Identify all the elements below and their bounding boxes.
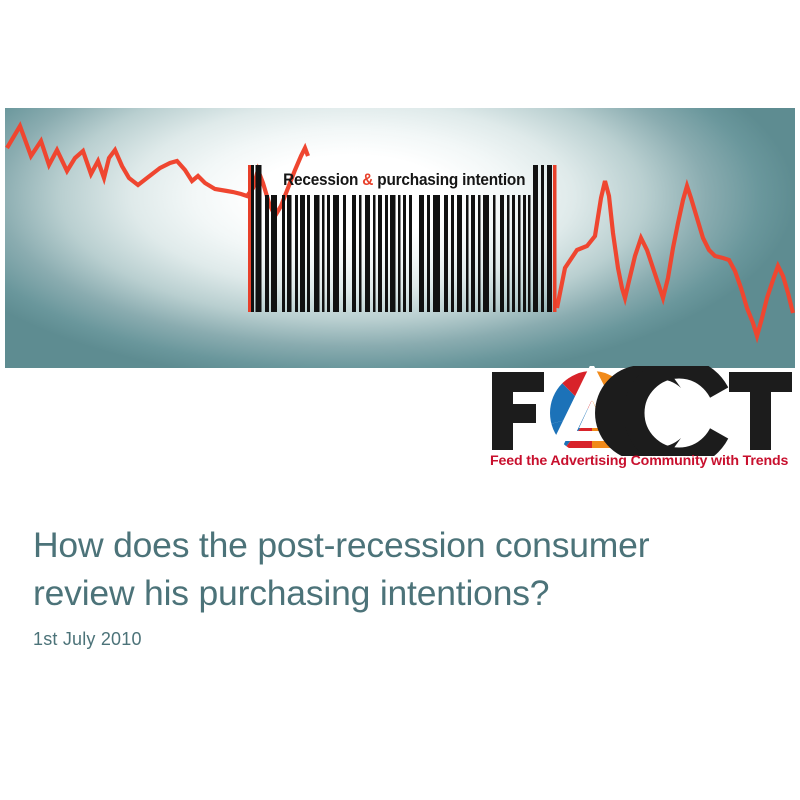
logo-letter-c xyxy=(595,366,745,456)
trend-line-right xyxy=(557,181,793,336)
fact-wordmark xyxy=(487,366,797,456)
slide-canvas: Recession & purchasing intention xyxy=(0,0,800,800)
page-date: 1st July 2010 xyxy=(33,629,142,650)
barcode-graphic: Recession & purchasing intention xyxy=(248,165,560,312)
page-title-line-2: review his purchasing intentions? xyxy=(33,569,763,617)
fact-logo: Feed the Advertising Community with Tren… xyxy=(487,366,797,481)
recession-banner: Recession & purchasing intention xyxy=(5,108,795,368)
page-title: How does the post-recession consumer rev… xyxy=(33,521,763,617)
logo-tagline: Feed the Advertising Community with Tren… xyxy=(490,453,795,469)
barcode-bars xyxy=(248,165,560,312)
page-title-line-1: How does the post-recession consumer xyxy=(33,521,763,569)
logo-letter-f xyxy=(492,372,544,450)
